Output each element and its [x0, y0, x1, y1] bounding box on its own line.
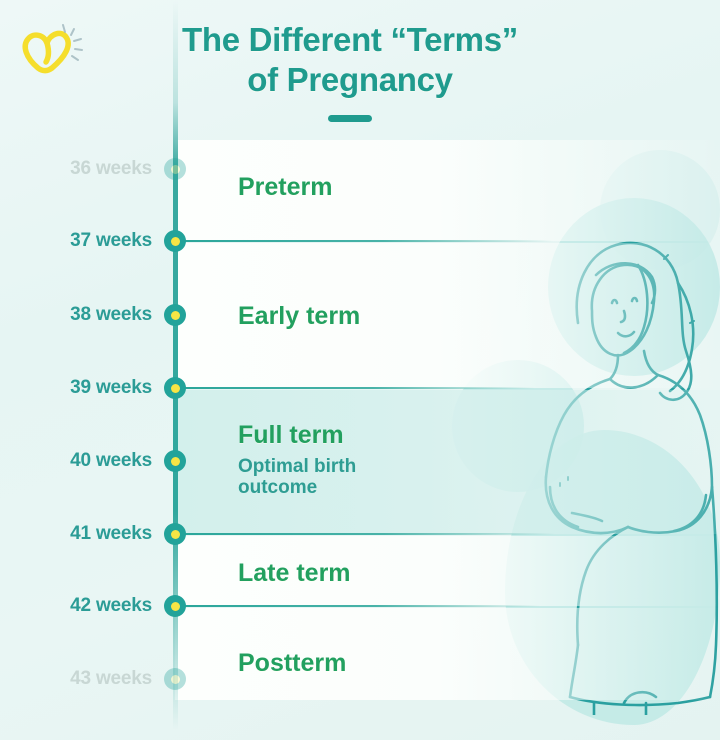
term-postterm: Postterm [238, 650, 518, 678]
term-late-term: Late term [238, 560, 518, 588]
term-preterm: Preterm [238, 174, 518, 202]
infographic-canvas: The Different “Terms” of Pregnancy 36 we… [0, 0, 720, 740]
title-line-1: The Different “Terms” [140, 20, 560, 60]
timeline-dot-38-weeks[interactable] [164, 304, 186, 326]
divider-at-42-weeks [175, 605, 540, 607]
week-label-36: 36 weeks [7, 158, 152, 180]
timeline-dot-37-weeks[interactable] [164, 230, 186, 252]
title-divider-dash [328, 115, 372, 122]
term-title-preterm: Preterm [238, 174, 518, 202]
page-title: The Different “Terms” of Pregnancy [140, 20, 560, 122]
divider-at-41-weeks [175, 533, 555, 535]
week-label-37: 37 weeks [7, 230, 152, 252]
term-full-term: Full term Optimal birth outcome [238, 422, 518, 499]
term-early-term: Early term [238, 303, 518, 331]
week-label-42: 42 weeks [7, 595, 152, 617]
timeline-dot-39-weeks[interactable] [164, 377, 186, 399]
title-line-2: of Pregnancy [140, 60, 560, 100]
term-title-early-term: Early term [238, 303, 518, 331]
week-label-40: 40 weeks [7, 450, 152, 472]
timeline-dot-36-weeks[interactable] [164, 158, 186, 180]
term-subtitle-full-term: Optimal birth outcome [238, 456, 518, 500]
timeline-dot-42-weeks[interactable] [164, 595, 186, 617]
timeline-dot-41-weeks[interactable] [164, 523, 186, 545]
timeline-dot-43-weeks[interactable] [164, 668, 186, 690]
week-labels-column: 36 weeks 37 weeks 38 weeks 39 weeks 40 w… [0, 0, 152, 740]
timeline-dot-40-weeks[interactable] [164, 450, 186, 472]
week-label-38: 38 weeks [7, 304, 152, 326]
term-subtitle-line-2: outcome [238, 477, 317, 498]
week-label-41: 41 weeks [7, 523, 152, 545]
term-subtitle-line-1: Optimal birth [238, 456, 356, 477]
term-title-late-term: Late term [238, 560, 518, 588]
timeline-axis [173, 0, 178, 730]
divider-at-37-weeks [175, 240, 553, 242]
week-label-39: 39 weeks [7, 377, 152, 399]
divider-at-39-weeks [175, 387, 535, 389]
term-title-postterm: Postterm [238, 650, 518, 678]
week-label-43: 43 weeks [7, 668, 152, 690]
term-title-full-term: Full term [238, 422, 518, 450]
